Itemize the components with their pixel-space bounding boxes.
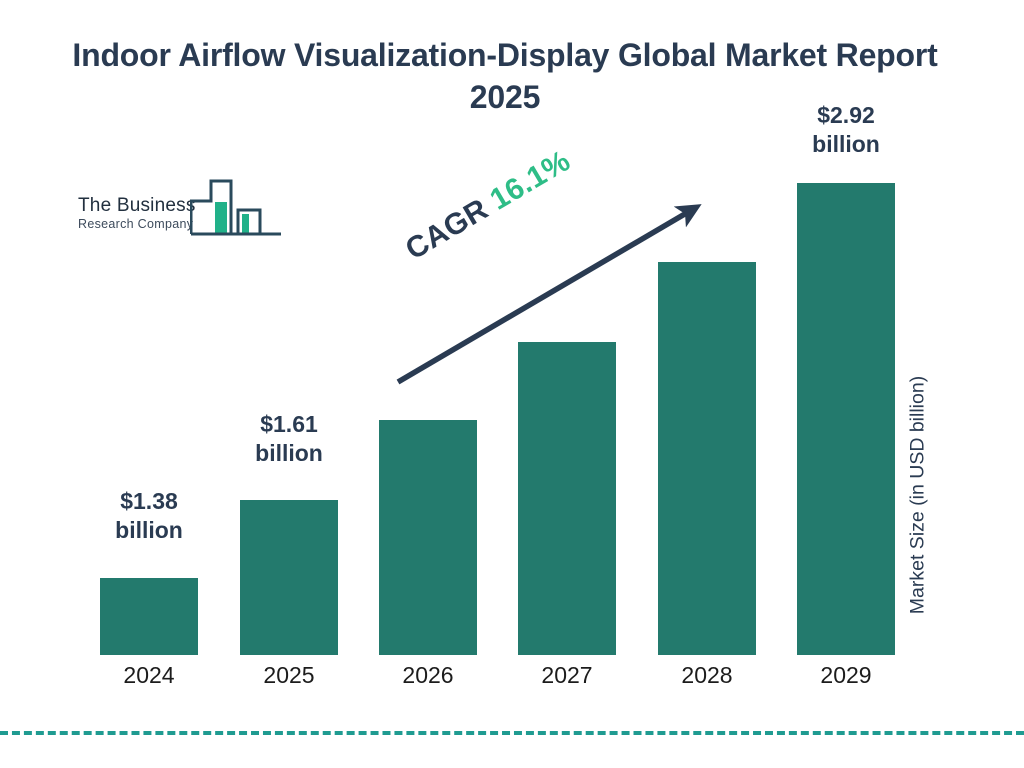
cagr-label-value: 16.1% — [485, 144, 576, 216]
bar-2025 — [240, 500, 338, 655]
bar-value-amount: $1.61 — [224, 410, 354, 439]
cagr-annotation: CAGR 16.1% — [400, 144, 576, 267]
x-tick-2028: 2028 — [658, 662, 756, 689]
bar-2024 — [100, 578, 198, 655]
y-axis-title-text: Market Size (in USD billion) — [907, 376, 930, 614]
bar-value-2029: $2.92 billion — [781, 101, 911, 159]
bar-2029 — [797, 183, 895, 655]
bar-value-unit: billion — [781, 130, 911, 159]
bar-value-amount: $1.38 — [84, 487, 214, 516]
chart-canvas: Indoor Airflow Visualization-Display Glo… — [0, 0, 1024, 768]
x-tick-2024: 2024 — [100, 662, 198, 689]
bar-value-2025: $1.61 billion — [224, 410, 354, 468]
x-tick-2026: 2026 — [379, 662, 477, 689]
x-tick-2029: 2029 — [797, 662, 895, 689]
bar-2026 — [379, 420, 477, 655]
x-tick-2027: 2027 — [518, 662, 616, 689]
bar-value-unit: billion — [84, 516, 214, 545]
x-tick-2025: 2025 — [240, 662, 338, 689]
bar-2028 — [658, 262, 756, 655]
bar-2027 — [518, 342, 616, 655]
bar-value-2024: $1.38 billion — [84, 487, 214, 545]
plot-area: $1.38 billion $1.61 billion $2.92 billio… — [0, 0, 1024, 768]
footer-divider — [0, 731, 1024, 735]
bar-value-amount: $2.92 — [781, 101, 911, 130]
cagr-label-word: CAGR — [400, 193, 494, 267]
y-axis-title: Market Size (in USD billion) — [906, 330, 930, 660]
bar-value-unit: billion — [224, 439, 354, 468]
